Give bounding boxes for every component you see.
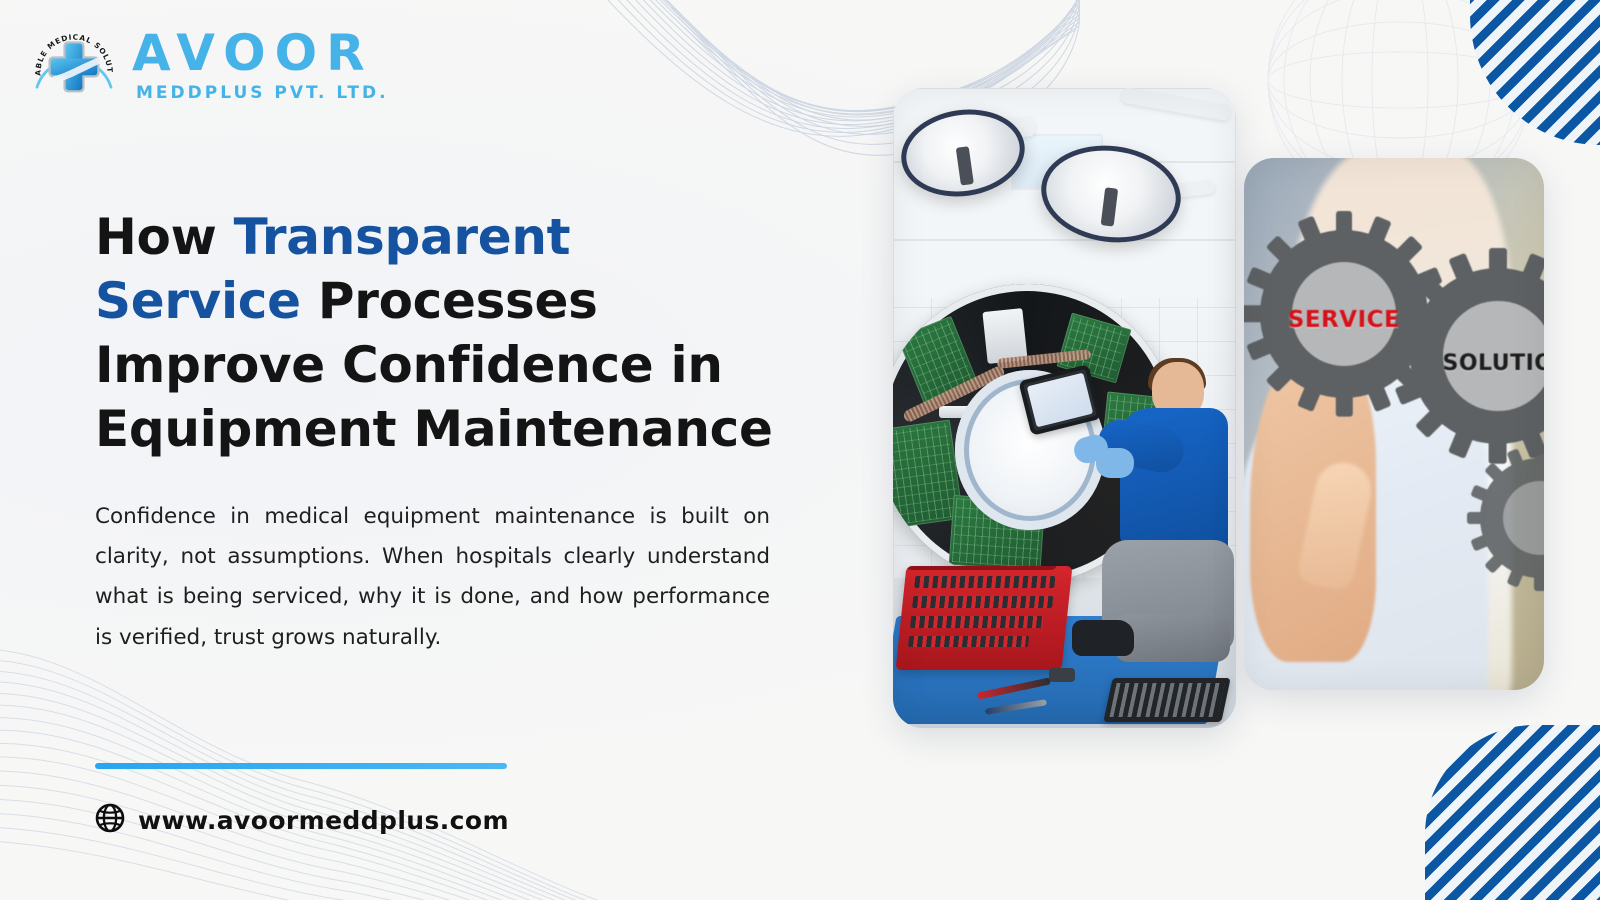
- gear-tooth: [1489, 248, 1507, 271]
- tool-roll: [1103, 678, 1230, 722]
- gear-tooth: [1534, 575, 1544, 591]
- technician-boot: [1072, 620, 1134, 656]
- poster-canvas: RELIABLE MEDICAL SOLUTIONS AVOOR MEDDPLU…: [0, 0, 1600, 900]
- technician-shirt: [1120, 408, 1228, 558]
- gear-tooth: [1467, 512, 1483, 524]
- main-image-card: [893, 88, 1236, 728]
- gear-solution: SOLUTIO: [1410, 268, 1544, 444]
- ceiling: [893, 88, 1236, 306]
- loose-tool-3: [1049, 668, 1075, 682]
- side-image-card: SERVICE SOLUTIO: [1244, 158, 1544, 690]
- globe-icon: [95, 803, 125, 838]
- headline-part-1: How: [95, 208, 234, 266]
- accent-rule-divider: [95, 763, 507, 769]
- footer: www.avoormeddplus.com: [95, 763, 815, 838]
- stripe-corner-top-right-decoration: [1470, 0, 1600, 145]
- scanner-service-scene: [893, 88, 1236, 728]
- website-url[interactable]: www.avoormeddplus.com: [138, 806, 509, 835]
- text-column: How Transparent Service Processes Improv…: [95, 205, 785, 658]
- website-block[interactable]: www.avoormeddplus.com: [95, 803, 815, 838]
- logo-badge-icon: RELIABLE MEDICAL SOLUTIONS: [30, 22, 118, 110]
- gear-tooth: [1336, 211, 1353, 233]
- gear-tooth: [1534, 445, 1544, 461]
- brand-logo[interactable]: RELIABLE MEDICAL SOLUTIONS AVOOR MEDDPLU…: [30, 22, 389, 110]
- body-paragraph: Confidence in medical equipment maintena…: [95, 497, 770, 658]
- service-solution-gears-scene: SERVICE SOLUTIO: [1244, 158, 1544, 690]
- brand-name: AVOOR: [132, 29, 389, 78]
- gear-tooth: [1336, 395, 1353, 417]
- brand-tagline: MEDDPLUS PVT. LTD.: [132, 83, 389, 103]
- gear-solution-label: SOLUTIO: [1410, 351, 1544, 376]
- index-finger: [1296, 458, 1377, 593]
- red-toolbox: [896, 566, 1073, 670]
- stripe-corner-bottom-right-decoration: [1425, 725, 1600, 900]
- gear-small: [1480, 458, 1544, 578]
- technician: [1080, 362, 1230, 692]
- gear-tooth: [1489, 441, 1507, 464]
- page-title: How Transparent Service Processes Improv…: [95, 205, 785, 461]
